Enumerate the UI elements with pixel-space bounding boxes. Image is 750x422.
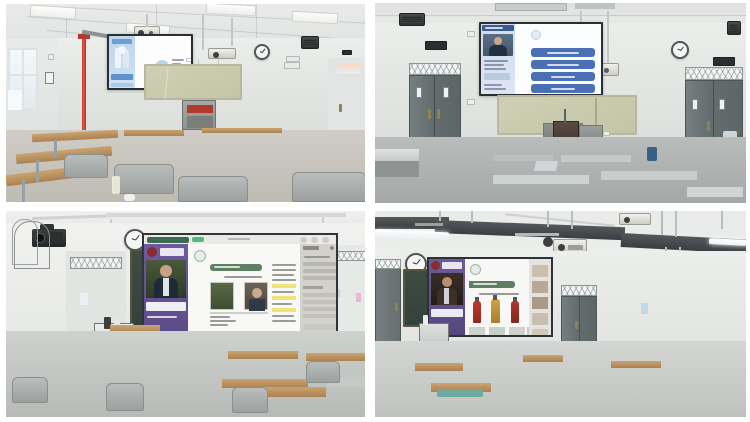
slide-main-area	[465, 259, 529, 335]
app-logo	[147, 237, 189, 243]
desk-item	[437, 389, 483, 397]
fire-extinguisher-2	[491, 299, 500, 323]
photo-collage	[0, 0, 750, 422]
wall-plaque	[425, 41, 447, 50]
slide-panel-header	[112, 39, 132, 44]
brand-title	[160, 248, 184, 256]
ceiling-speaker	[727, 21, 741, 35]
transom-window	[335, 62, 363, 76]
presenter-video	[431, 273, 463, 305]
wall-sticker	[641, 303, 648, 314]
photo-bottom-right[interactable]	[375, 211, 746, 417]
presenter-name-tag	[431, 309, 463, 317]
double-door-left[interactable]	[409, 75, 461, 139]
chat-message	[303, 300, 336, 304]
doc-photo-2	[244, 282, 268, 310]
photo-top-left[interactable]	[6, 4, 365, 202]
desk-row	[228, 351, 298, 359]
sidebar-close-icon[interactable]	[330, 246, 334, 250]
ceiling-vent	[495, 3, 567, 11]
chat-message	[303, 276, 336, 280]
equipment-rack	[182, 100, 216, 130]
desk-row	[124, 130, 184, 136]
screen-content	[481, 24, 601, 94]
transom-window	[561, 285, 597, 296]
chair	[106, 383, 144, 411]
slide-panel-caption	[111, 74, 133, 80]
light-switch[interactable]	[48, 54, 54, 60]
transom-window	[375, 259, 401, 269]
chair	[12, 377, 48, 403]
ceiling-conduit	[106, 213, 346, 217]
transom-window	[70, 257, 122, 269]
presenter-panel	[144, 244, 188, 332]
wall-clock	[671, 41, 689, 59]
doc-seal	[470, 264, 481, 275]
chat-sidebar[interactable]	[300, 244, 336, 343]
desk-row	[415, 363, 463, 371]
ceiling-light-panel	[292, 11, 339, 24]
desk-row	[561, 155, 631, 162]
doc-highlight	[272, 296, 296, 300]
photo-bottom-left[interactable]	[6, 211, 365, 417]
toolbar-icon[interactable]	[322, 237, 329, 243]
light-switch[interactable]	[467, 31, 475, 37]
collage-cell-bottom-left[interactable]	[0, 206, 371, 422]
doc-seal	[194, 250, 206, 262]
wall-sticker	[356, 293, 361, 302]
ceiling-speaker	[399, 13, 425, 26]
wall-clock	[254, 44, 270, 60]
bench-seat	[114, 164, 174, 194]
thumbnail[interactable]	[532, 297, 548, 309]
doc-highlight	[272, 284, 296, 288]
collage-cell-top-right[interactable]	[371, 0, 750, 206]
toolbar-icon[interactable]	[311, 237, 318, 243]
doc-photo-1	[210, 282, 234, 310]
thumbnail[interactable]	[532, 329, 548, 335]
chat-message	[303, 307, 336, 311]
desk-row	[601, 171, 697, 180]
transom-window	[685, 67, 743, 80]
desk-row	[611, 361, 661, 368]
thumbnail[interactable]	[532, 313, 548, 325]
live-badge	[192, 237, 204, 242]
water-bottle	[647, 147, 657, 161]
desk-row	[375, 149, 419, 161]
fire-extinguisher-1	[473, 301, 481, 323]
ceiling-speaker	[543, 237, 553, 247]
photo-top-right[interactable]	[375, 3, 746, 203]
projection-screen[interactable]	[479, 22, 603, 96]
chair	[232, 387, 268, 413]
water-bottle	[112, 176, 120, 194]
sidebar-title	[303, 246, 319, 250]
doc-highlight	[272, 308, 296, 312]
presenter-video	[146, 260, 186, 298]
bench-seat	[64, 154, 108, 178]
slide-logo	[531, 30, 541, 40]
door-window-reflection	[80, 293, 88, 305]
brand-title	[442, 262, 462, 269]
chair	[306, 361, 340, 383]
bench-seat	[292, 172, 365, 202]
screen-content	[144, 235, 336, 343]
ceiling-projector-secondary	[208, 48, 236, 59]
microphone	[564, 109, 566, 123]
toolbar-icon[interactable]	[300, 237, 307, 243]
laptop	[534, 161, 558, 171]
collage-cell-top-left[interactable]	[0, 0, 371, 206]
slide-thumbnail-strip[interactable]	[529, 259, 551, 335]
bench-seat	[178, 176, 248, 202]
shoe	[124, 194, 135, 201]
presenter-name-tag	[146, 302, 186, 311]
desk-row	[687, 187, 743, 197]
chat-message	[303, 293, 336, 297]
wall-plaque	[713, 57, 735, 66]
wall-plaque	[342, 50, 352, 55]
desk-row	[306, 353, 365, 361]
desk-row	[493, 175, 589, 184]
chat-message	[303, 262, 336, 266]
ceiling-projector-rear	[619, 213, 651, 225]
thumbnail[interactable]	[532, 281, 548, 293]
whiteboard	[144, 64, 242, 100]
collage-cell-bottom-right[interactable]	[371, 206, 750, 422]
floor	[375, 341, 746, 417]
thumbnail[interactable]	[532, 265, 548, 277]
wall-speaker	[301, 36, 319, 49]
chat-message	[303, 269, 336, 273]
shared-document	[188, 244, 300, 332]
brand-seal	[431, 261, 440, 270]
bottle	[423, 315, 428, 325]
fire-standpipe	[82, 36, 86, 130]
projection-screen[interactable]	[142, 233, 338, 345]
wall-fixture	[284, 62, 300, 69]
wall-outlet	[603, 131, 610, 136]
brand-seal	[147, 247, 157, 257]
chat-message	[303, 314, 336, 318]
speaker-video-thumbnail	[483, 34, 513, 56]
light-switch[interactable]	[467, 99, 475, 105]
chat-input[interactable]	[303, 324, 336, 330]
transom-window	[409, 63, 461, 75]
desk-row	[523, 355, 563, 362]
fire-extinguisher-3	[511, 301, 519, 323]
